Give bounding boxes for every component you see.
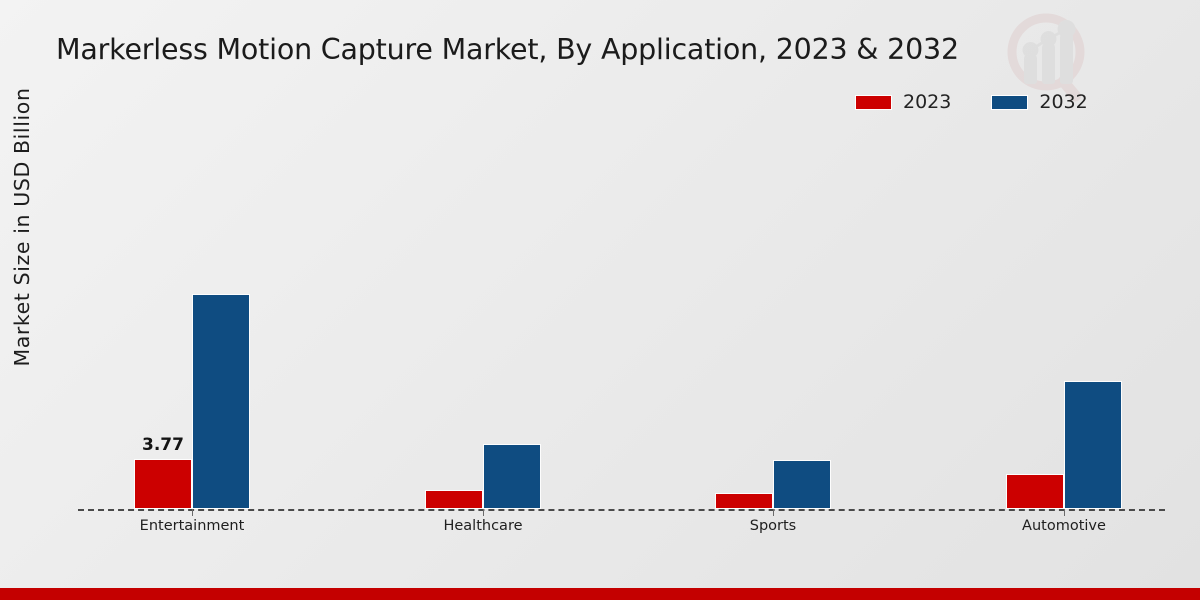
bar-automotive-2023[interactable]	[1006, 474, 1064, 509]
chart-figure: Markerless Motion Capture Market, By App…	[0, 0, 1200, 600]
x-label-healthcare: Healthcare	[420, 517, 546, 536]
x-label-automotive: Automotive	[1001, 517, 1127, 536]
legend-item-2023[interactable]: 2023	[855, 93, 951, 112]
bar-automotive-2032[interactable]	[1064, 381, 1122, 509]
chart-title: Markerless Motion Capture Market, By App…	[56, 33, 959, 66]
legend-label-2032: 2032	[1039, 93, 1087, 112]
plot-area: 3.77 Entertainment Healthcare Sports	[78, 130, 1165, 510]
bar-healthcare-2032[interactable]	[483, 444, 541, 509]
x-tick-sports	[773, 509, 774, 516]
x-tick-entertainment	[192, 509, 193, 516]
x-tick-healthcare	[483, 509, 484, 516]
bar-value-entertainment-2023: 3.77	[142, 435, 184, 455]
x-label-sports: Sports	[710, 517, 836, 536]
y-axis-title: Market Size in USD Billion	[10, 57, 34, 397]
x-tick-automotive	[1064, 509, 1065, 516]
legend-swatch-2023-icon	[855, 95, 892, 110]
legend-label-2023: 2023	[903, 93, 951, 112]
bar-sports-2032[interactable]	[773, 460, 831, 509]
chart-legend: 2023 2032	[855, 93, 1088, 112]
bar-sports-2023[interactable]	[715, 493, 773, 509]
bar-entertainment-2032[interactable]	[192, 294, 250, 509]
bar-healthcare-2023[interactable]	[425, 490, 483, 509]
x-axis-baseline	[78, 509, 1165, 511]
legend-swatch-2032-icon	[991, 95, 1028, 110]
legend-item-2032[interactable]: 2032	[991, 93, 1087, 112]
footer-accent-bar	[0, 588, 1200, 600]
bar-entertainment-2023[interactable]: 3.77	[134, 459, 192, 509]
x-label-entertainment: Entertainment	[129, 517, 255, 536]
